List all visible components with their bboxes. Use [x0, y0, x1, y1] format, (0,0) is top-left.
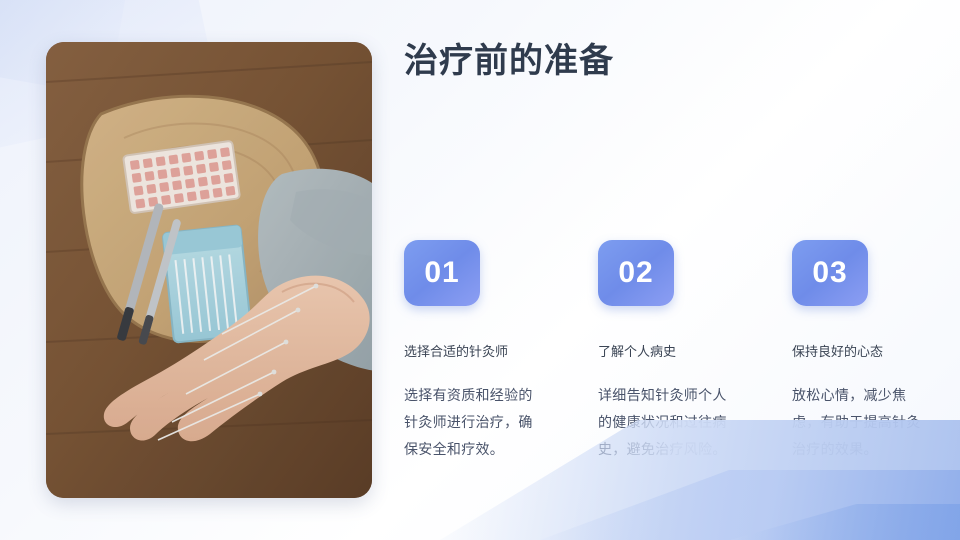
card-heading: 选择合适的针灸师	[404, 342, 536, 362]
page-title: 治疗前的准备	[404, 38, 614, 84]
step-number-badge: 03	[792, 240, 868, 306]
slide-photo	[46, 42, 372, 498]
step-number-badge: 01	[404, 240, 480, 306]
card-heading: 保持良好的心态	[792, 342, 924, 362]
card-body: 选择有资质和经验的针灸师进行治疗，确保安全和疗效。	[404, 382, 536, 463]
list-item: 01 选择合适的针灸师 选择有资质和经验的针灸师进行治疗，确保安全和疗效。	[404, 240, 536, 463]
card-heading: 了解个人病史	[598, 342, 730, 362]
step-number-badge: 02	[598, 240, 674, 306]
acupuncture-photo-illustration	[46, 42, 372, 498]
slide: 治疗前的准备 01 选择合适的针灸师 选择有资质和经验的针灸师进行治疗，确保安全…	[0, 0, 960, 540]
